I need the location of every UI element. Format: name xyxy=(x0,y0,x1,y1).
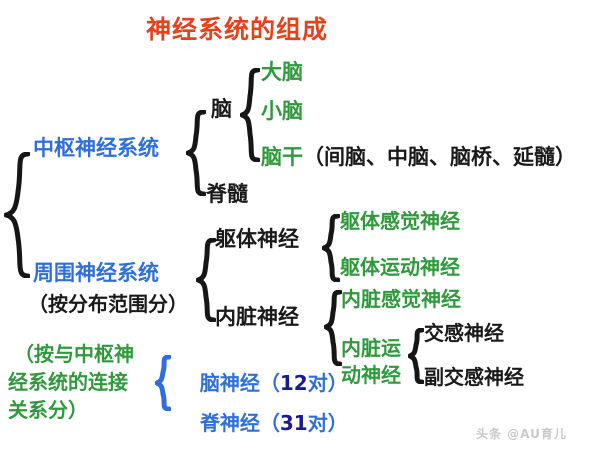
node-brainstem-note: （间脑、中脑、脑桥、延髓） xyxy=(303,146,576,170)
node-somatic-label: 躯体神经 xyxy=(215,228,299,252)
annotation-by-connection-line1: （按与中枢神 xyxy=(14,343,134,365)
annotation-by-connection-line2: 经系统的连接 xyxy=(8,371,128,393)
node-spinal-cord-label: 脊髓 xyxy=(206,183,248,207)
node-spinal-nerve: 脊神经（31对） xyxy=(172,390,348,450)
node-spinal-tail: 对） xyxy=(308,411,348,435)
watermark: 头条 @AU育儿 xyxy=(476,425,567,442)
brace-cns xyxy=(186,110,206,196)
brace-pns xyxy=(196,238,216,322)
brace-somatic xyxy=(322,214,340,282)
node-spinal-nerve-name: 脊神经 xyxy=(200,411,260,435)
node-cns-label: 中枢神经系统 xyxy=(33,137,159,161)
node-sympathetic-label: 交感神经 xyxy=(424,322,504,344)
node-brainstem-label: 脑干 xyxy=(261,146,303,170)
node-visceral-motor-line1: 内脏运 xyxy=(341,337,401,359)
annotation-by-connection-line3: 关系分） xyxy=(8,399,88,421)
node-visceral-sensory-label: 内脏感觉神经 xyxy=(341,288,461,310)
node-somatic-sensory-label: 躯体感觉神经 xyxy=(340,210,460,232)
page-title: 神经系统的组成 xyxy=(146,16,328,44)
brace-cranial-spinal xyxy=(155,355,171,411)
node-parasympathetic-label: 副交感神经 xyxy=(424,366,524,388)
node-pns-label: 周围神经系统 xyxy=(33,262,159,286)
node-cerebrum-label: 大脑 xyxy=(261,61,303,85)
node-visceral-motor-line2: 动神经 xyxy=(341,364,401,386)
node-spinal-open-paren: （ xyxy=(260,411,280,435)
node-spinal-count: 31 xyxy=(280,411,308,435)
node-somatic-motor-label: 躯体运动神经 xyxy=(340,256,460,278)
brace-visceral-motor xyxy=(408,328,424,384)
diagram-canvas: 神经系统的组成 中枢神经系统 脑 大脑 小脑 脑干 （间脑、中脑、脑桥、延髓） … xyxy=(0,0,600,450)
annotation-by-distribution: （按分布范围分） xyxy=(28,293,188,315)
node-brain-label: 脑 xyxy=(211,98,232,122)
node-visceral-label: 内脏神经 xyxy=(215,306,299,330)
brace-root xyxy=(4,152,30,278)
node-cerebellum-label: 小脑 xyxy=(261,100,303,124)
brace-brain xyxy=(240,68,260,162)
